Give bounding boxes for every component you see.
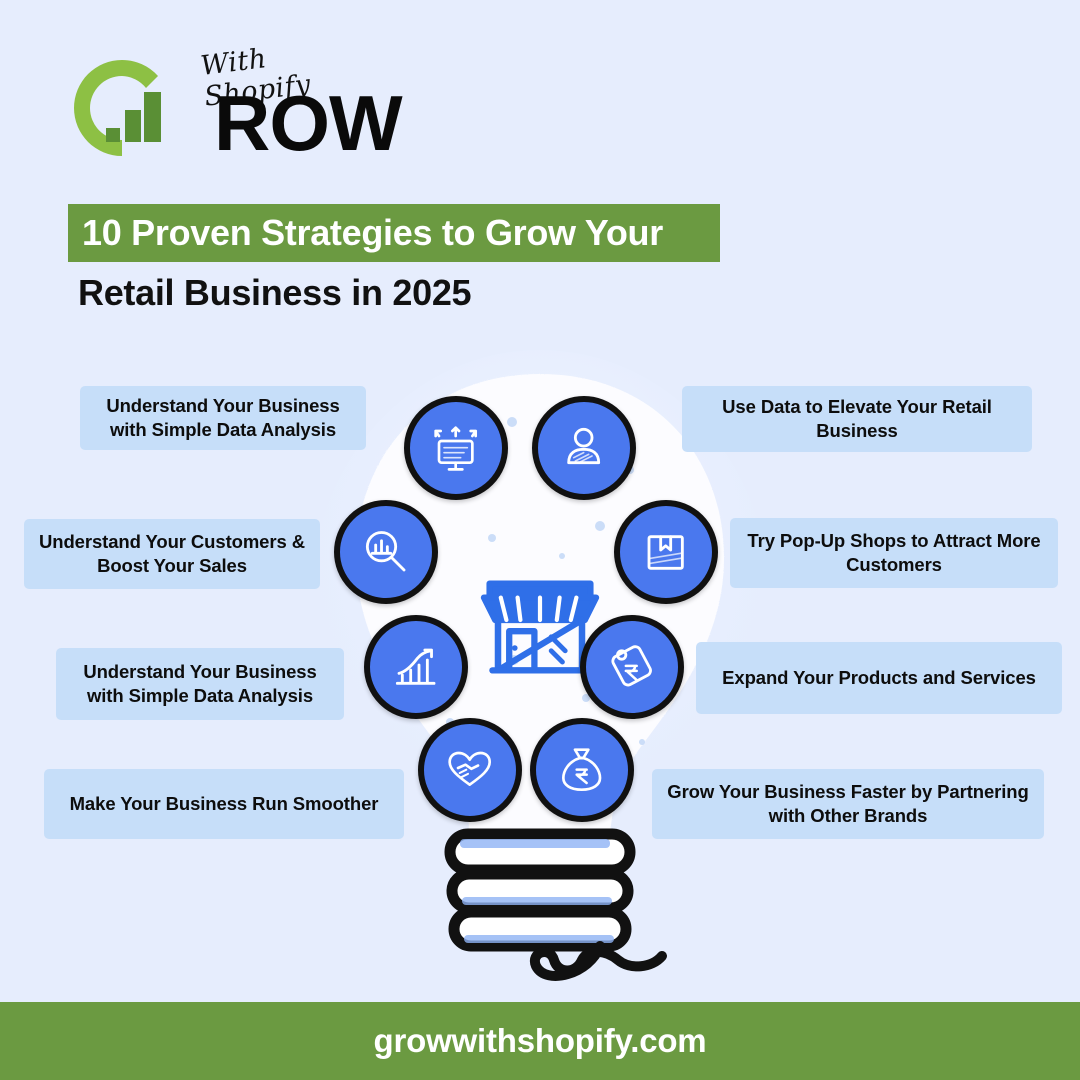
label-left-3[interactable]: Understand Your Business with Simple Dat…: [56, 648, 344, 720]
label-left-1[interactable]: Understand Your Business with Simple Dat…: [80, 386, 366, 450]
label-right-2-text: Try Pop-Up Shops to Attract More Custome…: [742, 529, 1046, 576]
green-g-bar-chart-logo-icon: [62, 54, 182, 162]
label-right-4-text: Grow Your Business Faster by Partnering …: [664, 780, 1032, 827]
label-left-2-text: Understand Your Customers & Boost Your S…: [36, 530, 308, 577]
label-right-1-text: Use Data to Elevate Your Retail Business: [694, 395, 1020, 442]
icon-circle-growth-bar-chart-arrow[interactable]: [364, 615, 468, 719]
icon-circle-person-customer[interactable]: [532, 396, 636, 500]
page-title-line-1: 10 Proven Strategies to Grow Your: [68, 204, 720, 262]
label-left-3-text: Understand Your Business with Simple Dat…: [68, 660, 332, 707]
page-title-line-1-text: 10 Proven Strategies to Grow Your: [68, 212, 663, 254]
icon-circle-handshake-heart[interactable]: [418, 718, 522, 822]
label-right-1[interactable]: Use Data to Elevate Your Retail Business: [682, 386, 1032, 452]
icon-circle-monitor-growth[interactable]: [404, 396, 508, 500]
icon-circle-package-box[interactable]: [614, 500, 718, 604]
footer-website-text[interactable]: growwithshopify.com: [374, 1022, 707, 1060]
page-title-line-2: Retail Business in 2025: [78, 272, 471, 314]
label-right-4[interactable]: Grow Your Business Faster by Partnering …: [652, 769, 1044, 839]
icon-circle-price-tag-rupee[interactable]: [580, 615, 684, 719]
logo-wordmark: ROW: [214, 84, 402, 162]
label-right-2[interactable]: Try Pop-Up Shops to Attract More Custome…: [730, 518, 1058, 588]
label-left-4-text: Make Your Business Run Smoother: [70, 792, 379, 816]
icon-circle-magnifier-bar-chart[interactable]: [334, 500, 438, 604]
label-left-2[interactable]: Understand Your Customers & Boost Your S…: [24, 519, 320, 589]
footer-bar: growwithshopify.com: [0, 1002, 1080, 1080]
infographic-canvas: With Shopify ROW 10 Proven Strategies to…: [0, 0, 1080, 1080]
label-right-3[interactable]: Expand Your Products and Services: [696, 642, 1062, 714]
icon-circle-money-bag-rupee[interactable]: [530, 718, 634, 822]
label-right-3-text: Expand Your Products and Services: [722, 666, 1036, 690]
label-left-1-text: Understand Your Business with Simple Dat…: [92, 394, 354, 441]
label-left-4[interactable]: Make Your Business Run Smoother: [44, 769, 404, 839]
brand-logo: With Shopify ROW: [62, 38, 382, 168]
